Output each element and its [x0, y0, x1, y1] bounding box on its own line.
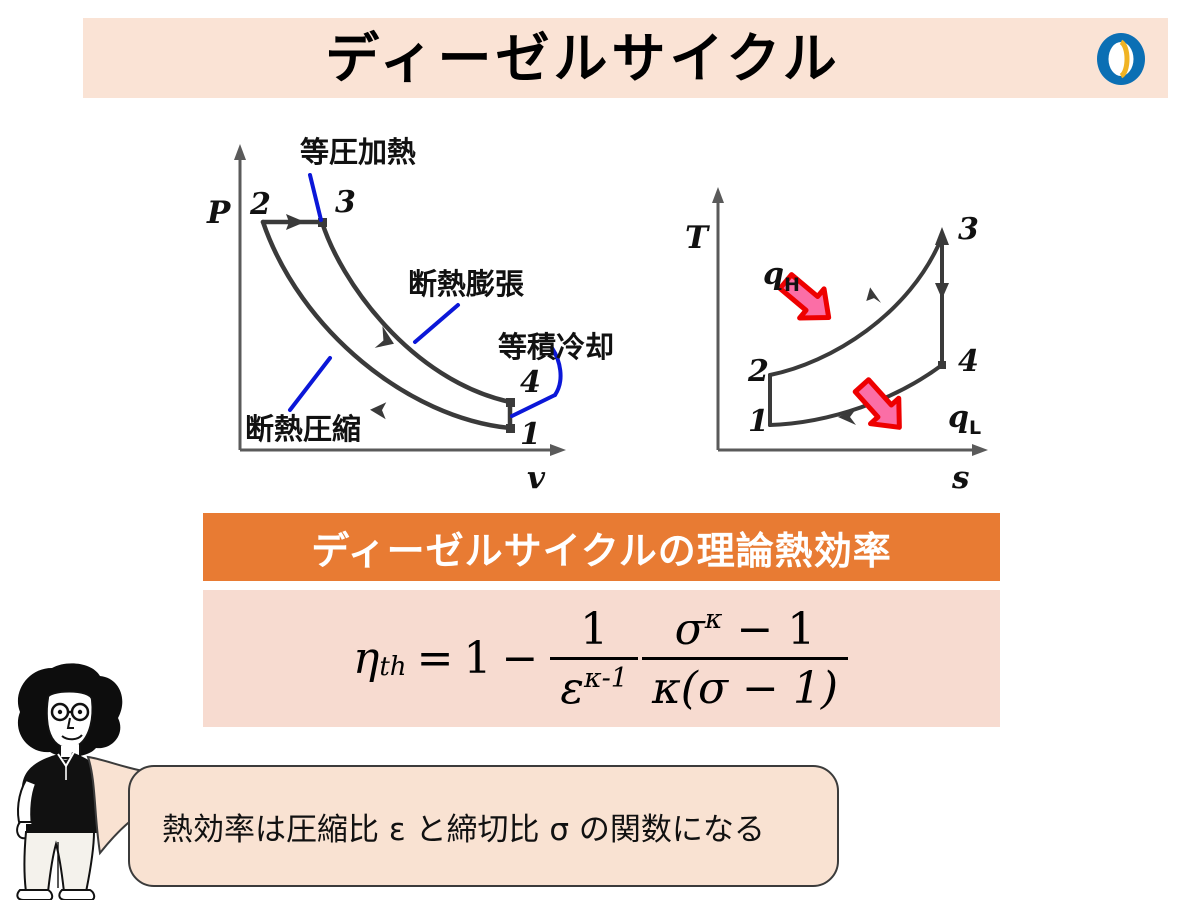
ts-point-2: 2 [748, 357, 769, 387]
pv-x-axis-label: v [527, 463, 545, 494]
pv-point-3: 3 [335, 188, 356, 218]
formula-fraction-one: 1 εκ-1 [550, 604, 638, 714]
temperature-entropy-diagram: T s 1 2 3 4 qH qL [680, 175, 1030, 495]
page-title: ディーゼルサイクル [83, 20, 1083, 98]
ts-heat-output-label: qL [948, 403, 981, 438]
formula-sigma: σ [675, 604, 705, 655]
formula-sigma-exponent: κ [705, 604, 723, 635]
pv-annotation-adiabatic-compression: 断熱圧縮 [245, 415, 361, 444]
formula-frac1-numerator: 1 [570, 604, 618, 657]
pv-point-2: 2 [250, 190, 271, 220]
formula-epsilon-exponent: κ-1 [584, 663, 628, 694]
ts-heat-input-symbol: q [763, 257, 784, 292]
ts-heat-input-label: qH [763, 260, 800, 295]
formula-epsilon: ε [560, 663, 584, 714]
speech-bubble: 熱効率は圧縮比 ε と締切比 σ の関数になる [128, 765, 839, 887]
formula-minus: − [501, 633, 538, 684]
pv-annotation-isobaric-heating: 等圧加熱 [300, 138, 416, 167]
pv-point-1: 1 [520, 420, 541, 450]
subtitle-text: ディーゼルサイクルの理論熱効率 [311, 520, 891, 575]
pressure-volume-diagram: P v 2 3 4 1 等圧加熱 断熱膨張 等積冷却 断熱圧縮 [190, 130, 610, 495]
pv-point-4: 4 [520, 368, 541, 398]
formula-eta: η [353, 633, 379, 684]
speech-bubble-text: 熱効率は圧縮比 ε と締切比 σ の関数になる [162, 804, 765, 849]
slide-root: ディーゼルサイクル [0, 0, 1200, 900]
formula-box: ηth = 1 − 1 εκ-1 σκ − 1 κ(σ − 1) [203, 590, 1000, 727]
formula-equals: = [417, 633, 454, 684]
organization-logo-icon [1096, 32, 1146, 86]
formula-fraction-two: σκ − 1 κ(σ − 1) [642, 604, 848, 714]
thermal-efficiency-formula: ηth = 1 − 1 εκ-1 σκ − 1 κ(σ − 1) [353, 604, 850, 714]
pv-y-axis-label: P [207, 198, 230, 229]
ts-point-3: 3 [958, 215, 979, 245]
formula-frac1-denominator: εκ-1 [550, 660, 638, 714]
ts-x-axis-label: s [952, 463, 969, 494]
ts-point-4: 4 [958, 347, 979, 377]
formula-frac2-numerator: σκ − 1 [665, 604, 826, 657]
pv-annotation-isochoric-cooling: 等積冷却 [498, 333, 614, 362]
formula-one: 1 [463, 633, 491, 684]
ts-point-1: 1 [748, 407, 769, 437]
pv-annotation-adiabatic-expansion: 断熱膨張 [408, 270, 524, 299]
ts-heat-output-symbol: q [948, 400, 969, 435]
formula-frac2-numerator-tail: − 1 [736, 604, 815, 655]
formula-eta-subscript: th [379, 652, 406, 682]
formula-frac2-denominator: κ(σ − 1) [642, 660, 848, 714]
ts-y-axis-label: T [685, 223, 708, 254]
ts-heat-output-subscript: L [969, 417, 981, 439]
ts-heat-input-subscript: H [784, 274, 800, 296]
subtitle-banner: ディーゼルサイクルの理論熱効率 [203, 513, 1000, 581]
